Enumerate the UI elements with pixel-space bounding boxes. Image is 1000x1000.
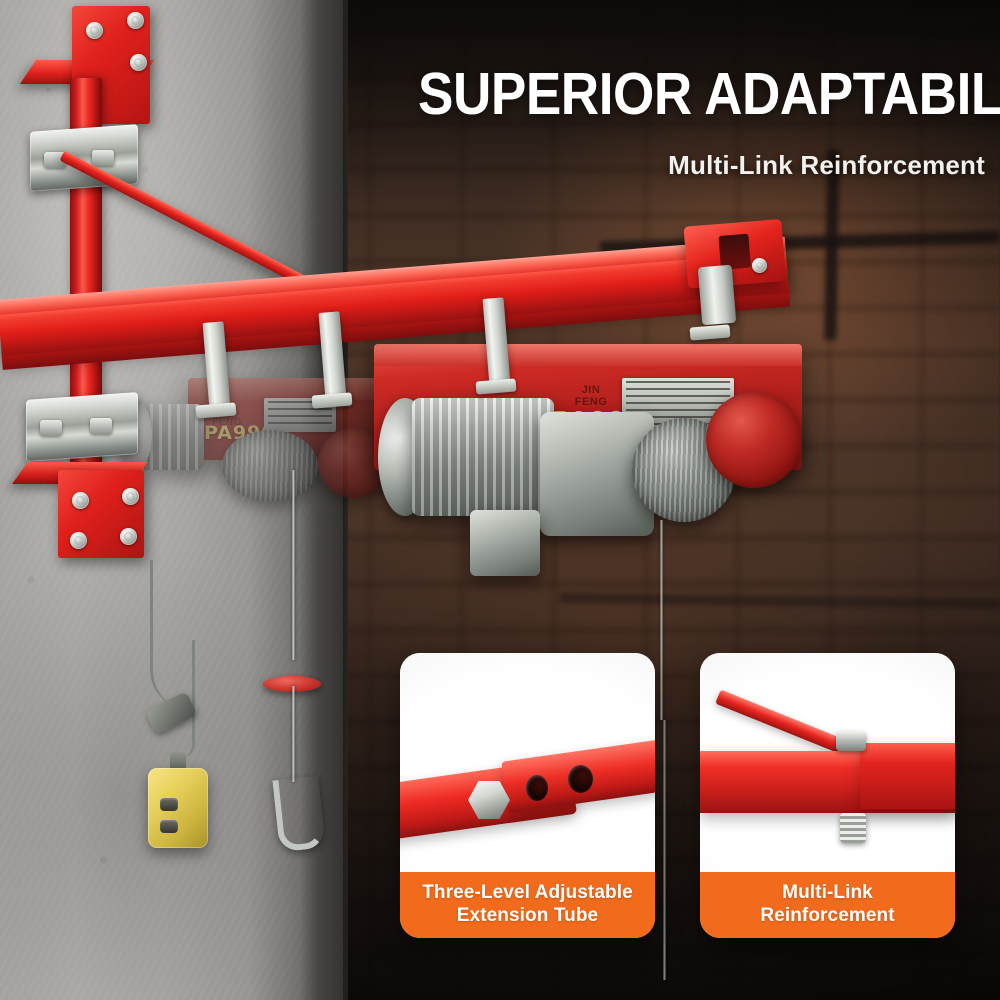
lifting-cable-lower [292,686,295,782]
feature-inset-multi-link: Multi-Link Reinforcement [700,653,955,938]
lifting-cable-foreground-lower [663,720,666,980]
beam-end-clamp [698,265,737,326]
lifting-hook-icon [272,776,325,852]
mount-bolt [72,492,89,509]
pendant-control-icon [148,768,208,848]
adjustment-hole [568,765,593,793]
brace-lower-bolt-stack [840,813,866,843]
mount-bolt [122,488,139,505]
inset-caption-line-2: Extension Tube [406,904,649,927]
inset-photo-extension-tube [400,653,655,872]
feature-inset-extension-tube: Three-Level Adjustable Extension Tube [400,653,655,938]
mount-bolt [120,528,137,545]
lifting-cable-foreground [660,520,663,720]
adjustment-hole [526,775,548,801]
inset-caption-line-2: Reinforcement [706,904,949,927]
brand-mark: JIN FENG [568,384,614,408]
mount-bolt [130,54,147,71]
clamp-nut [40,420,62,436]
clamp-nut [90,418,112,434]
lifting-cable [292,470,295,660]
pendant-down-button [160,820,178,833]
clamp-nut [92,150,114,166]
mount-bolt [70,532,87,549]
inset-photo-multi-link [700,653,955,872]
pendant-up-button [160,798,178,811]
inset-caption-line-1: Three-Level Adjustable [406,881,649,904]
inset-caption-multi-link: Multi-Link Reinforcement [700,872,955,938]
mount-bolt [752,258,767,273]
drum-wire-winding [222,430,318,502]
mount-bolt [86,22,103,39]
motor-cooling-fins [412,398,554,516]
cable-drum [222,430,318,502]
inset-caption-line-1: Multi-Link [706,881,949,904]
hoist-sheave-wheel [706,392,802,488]
hoist-housing-top [374,344,802,366]
mount-bolt [127,12,144,29]
beam-end-clamp-foot [690,324,731,340]
inset-caption-extension-tube: Three-Level Adjustable Extension Tube [400,872,655,938]
hoist-motor [412,398,554,516]
hoist-lower-housing [470,510,540,576]
brace-upper-bolt [836,731,866,751]
product-marketing-image: SUPERIOR ADAPTABILITY Multi-Link Reinfor… [0,0,1000,1000]
brace-joint-beam [860,743,955,809]
